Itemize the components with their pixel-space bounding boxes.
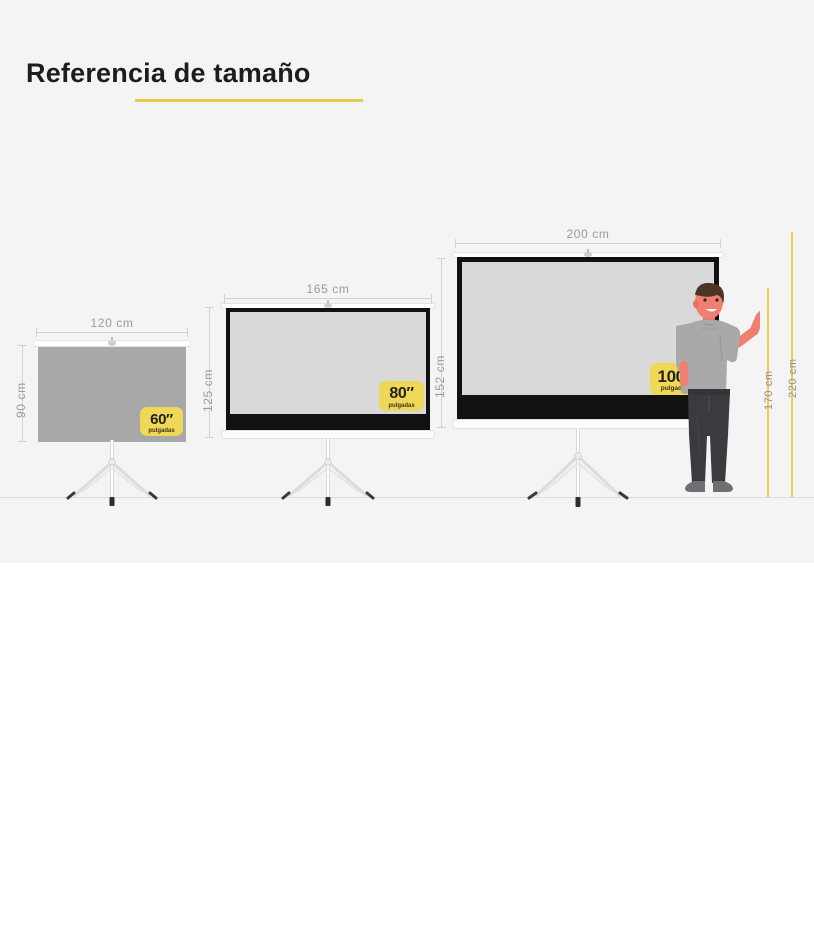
width-dimension-line-100 (455, 243, 721, 244)
height-dimension-line-100 (441, 258, 442, 428)
reference-label-170: 170 cm (763, 370, 775, 410)
tripod-stand-100 (520, 428, 640, 514)
reference-label-220: 220 cm (787, 358, 799, 398)
size-reference-figure: Referencia de tamaño 120 cm 90 cm 60″ pu… (0, 0, 814, 939)
height-dimension-label-100: 152 cm (433, 355, 447, 398)
width-dimension-label-100: 200 cm (455, 227, 721, 241)
person-scale-figure (676, 283, 760, 499)
